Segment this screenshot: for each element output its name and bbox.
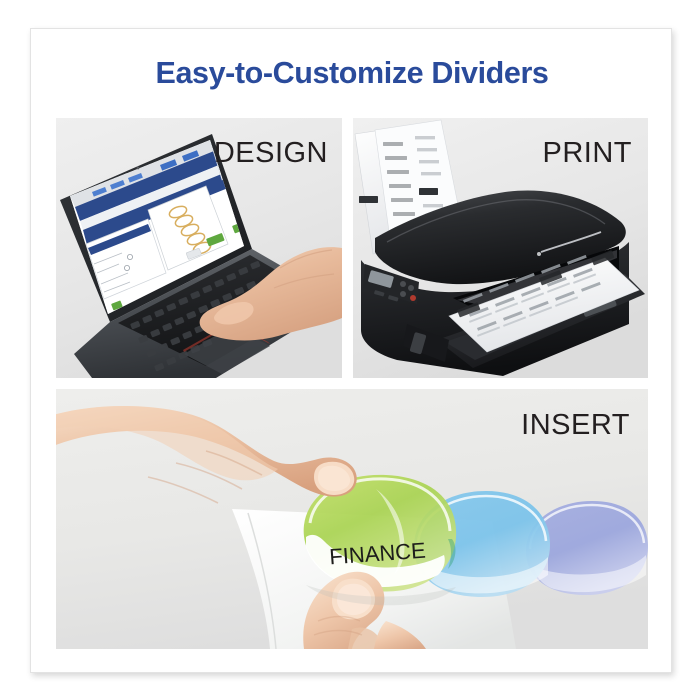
panel-label-print: PRINT (543, 137, 633, 170)
panel-insert: FINANCE IN (56, 389, 648, 649)
page-title: Easy-to-Customize Dividers (31, 56, 673, 91)
panel-label-insert: INSERT (521, 409, 630, 442)
panel-print: PRINT (353, 118, 648, 378)
product-info-card: Easy-to-Customize Dividers (30, 28, 672, 673)
panel-label-design: DESIGN (214, 137, 328, 170)
panel-design: DESIGN (56, 118, 342, 378)
